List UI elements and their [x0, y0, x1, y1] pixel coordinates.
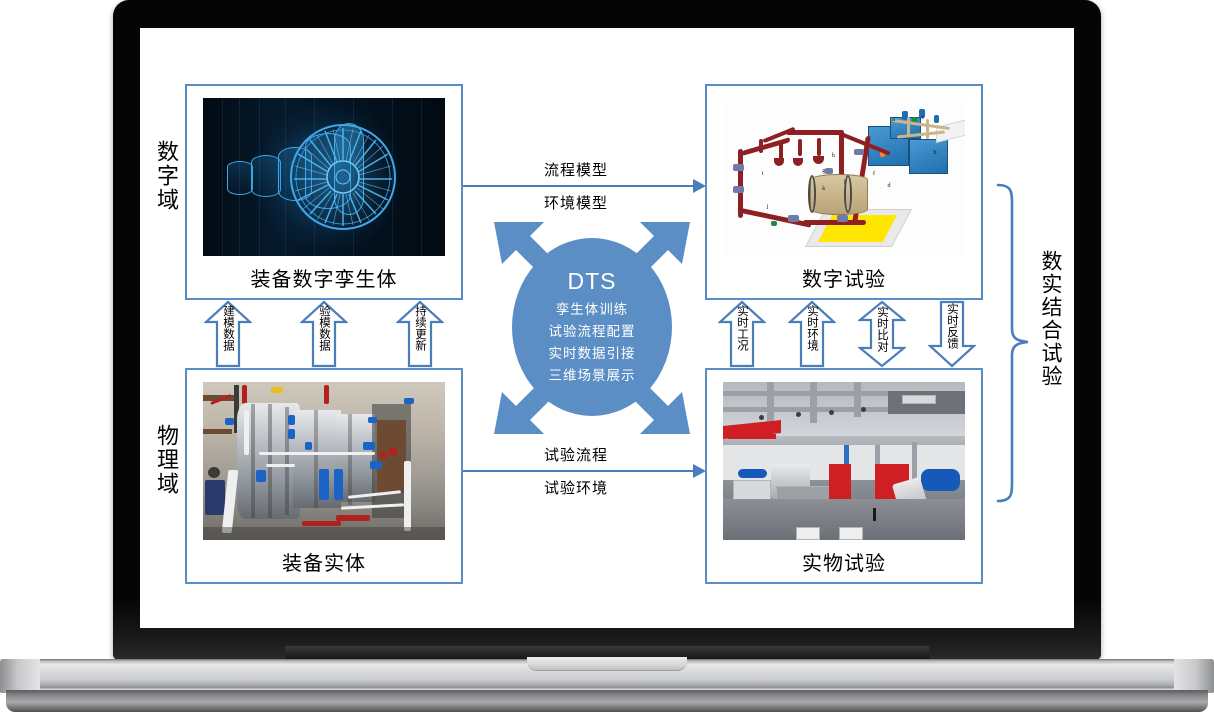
card-caption: 装备数字孪生体 — [187, 263, 461, 292]
flow-line-bottom — [463, 470, 693, 472]
block-arrow-realtime-feedback[interactable]: 实时反馈 — [928, 300, 976, 368]
label-physical-domain: 物理域 — [150, 424, 182, 496]
dts-item-2: 试验流程配置 — [549, 321, 636, 343]
right-brace — [996, 183, 1036, 503]
block-arrow-label: 建模数据 — [222, 305, 234, 351]
block-arrow-realtime-condition[interactable]: 实时工况 — [718, 300, 766, 368]
flow-label-top-below: 环境模型 — [544, 192, 608, 213]
flow-arrowhead-bottom — [693, 464, 706, 478]
block-arrow-label: 实时工况 — [736, 305, 748, 351]
laptop-lid-notch — [527, 657, 687, 671]
block-arrow-label: 实时反馈 — [946, 303, 958, 349]
brace-label: 数实结合试验 — [1035, 250, 1065, 388]
dts-hub[interactable]: DTS 孪生体训练 试验流程配置 实时数据引接 三维场景展示 — [492, 208, 692, 448]
card-equipment-digital-twin[interactable]: 装备数字孪生体 — [185, 84, 463, 300]
flow-label-top-above: 流程模型 — [544, 159, 608, 180]
card-equipment-entity[interactable]: 装备实体 — [185, 368, 463, 584]
test-hall-photo — [723, 382, 965, 540]
block-arrow-validation-data[interactable]: 验模数据 — [300, 300, 348, 368]
cad-test-rig-model: i g h f d k l l b c a — [723, 98, 965, 256]
laptop-base-lip — [6, 690, 1208, 712]
dts-item-3: 实时数据引接 — [549, 343, 636, 365]
laptop-base-left-edge — [0, 659, 40, 693]
card-caption: 实物试验 — [707, 547, 981, 576]
block-arrow-label: 实时比对 — [876, 306, 888, 352]
block-arrow-label: 持续更新 — [414, 305, 426, 351]
engine-assembly-photo — [203, 382, 445, 540]
card-physical-test[interactable]: 实物试验 — [705, 368, 983, 584]
card-caption: 装备实体 — [187, 547, 461, 576]
block-arrow-modeling-data[interactable]: 建模数据 — [204, 300, 252, 368]
flow-label-bottom-above: 试验流程 — [544, 444, 608, 465]
turbine-fan-graphic — [287, 121, 399, 233]
label-digital-domain: 数字域 — [150, 140, 182, 212]
laptop-base-right-edge — [1174, 659, 1214, 693]
dts-item-4: 三维场景展示 — [549, 365, 636, 387]
block-arrow-realtime-comparison[interactable]: 实时比对 — [858, 300, 906, 368]
card-caption: 数字试验 — [707, 263, 981, 292]
flow-line-top — [463, 185, 693, 187]
laptop-mockup: 数字域 物理域 — [0, 0, 1214, 714]
turbine-digital-twin-render — [203, 98, 445, 256]
block-arrow-continuous-update[interactable]: 持续更新 — [396, 300, 444, 368]
flow-label-bottom-below: 试验环境 — [544, 477, 608, 498]
block-arrow-realtime-environment[interactable]: 实时环境 — [788, 300, 836, 368]
dts-title: DTS — [568, 268, 617, 295]
screen-content: 数字域 物理域 — [140, 28, 1074, 628]
block-arrow-label: 验模数据 — [318, 305, 330, 351]
flow-arrowhead-top — [693, 179, 706, 193]
dts-item-1: 孪生体训练 — [556, 299, 629, 321]
dts-circle[interactable]: DTS 孪生体训练 试验流程配置 实时数据引接 三维场景展示 — [512, 238, 672, 416]
block-arrow-label: 实时环境 — [806, 305, 818, 351]
card-digital-test[interactable]: i g h f d k l l b c a 数字试验 — [705, 84, 983, 300]
